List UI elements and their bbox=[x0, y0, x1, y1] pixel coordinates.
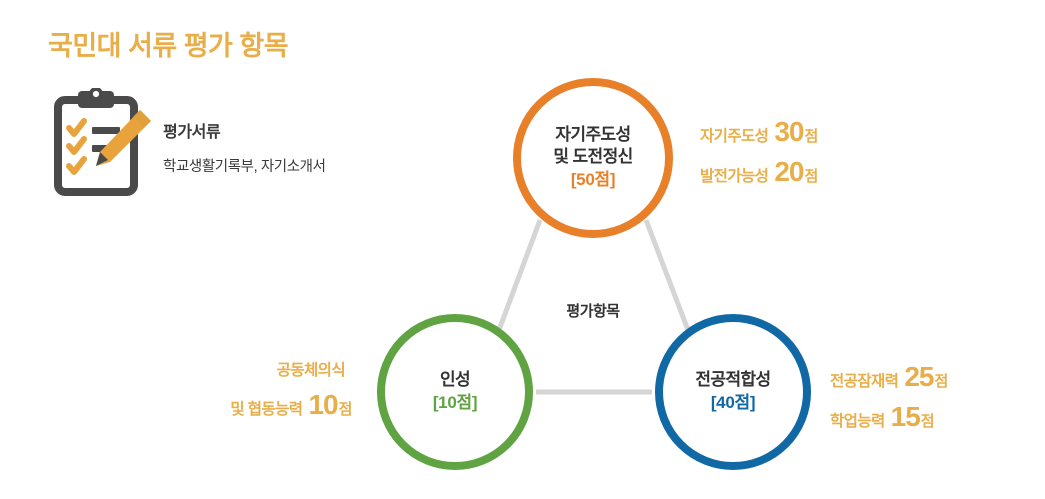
annotation-row: 발전가능성 20 점 bbox=[700, 158, 818, 186]
annotation-unit: 점 bbox=[804, 129, 817, 144]
annotation-character-breakdown: 공동체의식 및 협동능력 10 점 bbox=[110, 363, 352, 419]
node-character-score: [10점] bbox=[433, 392, 477, 415]
annotation-unit: 점 bbox=[804, 169, 817, 184]
annotation-name: 자기주도성 bbox=[700, 129, 768, 145]
annotation-name: 전공잠재력 bbox=[830, 374, 898, 390]
annotation-number: 10 bbox=[308, 391, 337, 419]
node-major-fit-label: 전공적합성 bbox=[695, 369, 770, 391]
infographic-root: 국민대 서류 평가 항목 평가서류 학교생활기록부 bbox=[0, 0, 1045, 499]
annotation-row: 전공잠재력 25 점 bbox=[830, 363, 948, 391]
annotation-number: 30 bbox=[774, 118, 803, 146]
annotation-number: 15 bbox=[891, 403, 920, 431]
annotation-unit: 점 bbox=[921, 414, 934, 429]
node-self-direction-label-line1: 자기주도성 bbox=[555, 124, 630, 146]
annotation-unit: 점 bbox=[339, 402, 352, 417]
annotation-number: 25 bbox=[904, 363, 933, 391]
node-self-direction-label-line2: 및 도전정신 bbox=[553, 146, 632, 168]
node-character-label: 인성 bbox=[440, 369, 470, 391]
annotation-name: 발전가능성 bbox=[700, 169, 768, 185]
node-character[interactable]: 인성 [10점] bbox=[377, 314, 533, 470]
annotation-major-fit-breakdown: 전공잠재력 25 점 학업능력 15 점 bbox=[830, 363, 948, 431]
annotation-row: 학업능력 15 점 bbox=[830, 403, 948, 431]
annotation-row: 자기주도성 30 점 bbox=[700, 118, 818, 146]
center-caption: 평가항목 bbox=[527, 300, 659, 321]
node-self-direction-score: [50점] bbox=[571, 169, 615, 192]
annotation-row: 및 협동능력 10 점 bbox=[110, 391, 352, 419]
annotation-number: 20 bbox=[774, 158, 803, 186]
node-major-fit-score: [40점] bbox=[711, 392, 755, 415]
node-self-direction[interactable]: 자기주도성 및 도전정신 [50점] bbox=[513, 78, 673, 238]
annotation-unit: 점 bbox=[934, 374, 947, 389]
annotation-name: 공동체의식 bbox=[277, 363, 345, 379]
annotation-row: 공동체의식 bbox=[110, 363, 352, 379]
node-major-fit[interactable]: 전공적합성 [40점] bbox=[655, 314, 811, 470]
annotation-name: 및 협동능력 bbox=[230, 402, 302, 418]
annotation-name: 학업능력 bbox=[830, 414, 885, 430]
annotation-self-direction-breakdown: 자기주도성 30 점 발전가능성 20 점 bbox=[700, 118, 818, 186]
